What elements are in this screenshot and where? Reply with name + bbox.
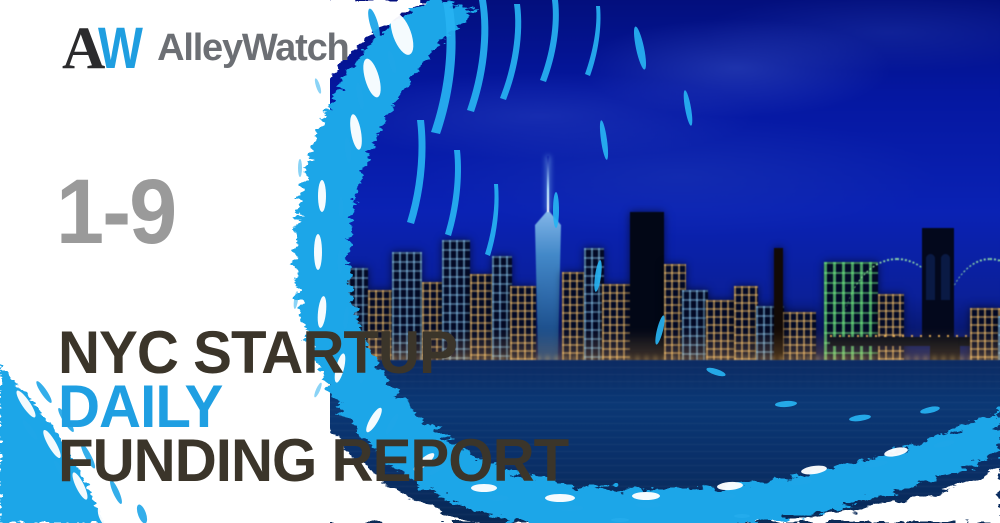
- alleywatch-wordmark: AlleyWatch: [157, 27, 348, 70]
- logo-letter-a-icon: A: [62, 18, 102, 78]
- headline-line-daily: DAILY: [58, 380, 568, 434]
- alleywatch-logo[interactable]: AW AlleyWatch: [62, 18, 349, 78]
- headline: NYC STARTUP DAILY FUNDING REPORT: [58, 326, 584, 488]
- brooklyn-bridge-tower: [922, 228, 954, 346]
- alleywatch-logo-mark: AW: [62, 18, 149, 78]
- alleywatch-funding-report-banner: AW AlleyWatch 1-9 NYC STARTUP DAILY FUND…: [0, 0, 1000, 523]
- logo-letter-w-icon: W: [98, 20, 140, 78]
- date-range: 1-9: [56, 166, 175, 258]
- headline-line-nyc-startup: NYC STARTUP: [58, 326, 568, 380]
- headline-line-funding-report: FUNDING REPORT: [58, 434, 568, 488]
- wtc-spire: [547, 156, 549, 212]
